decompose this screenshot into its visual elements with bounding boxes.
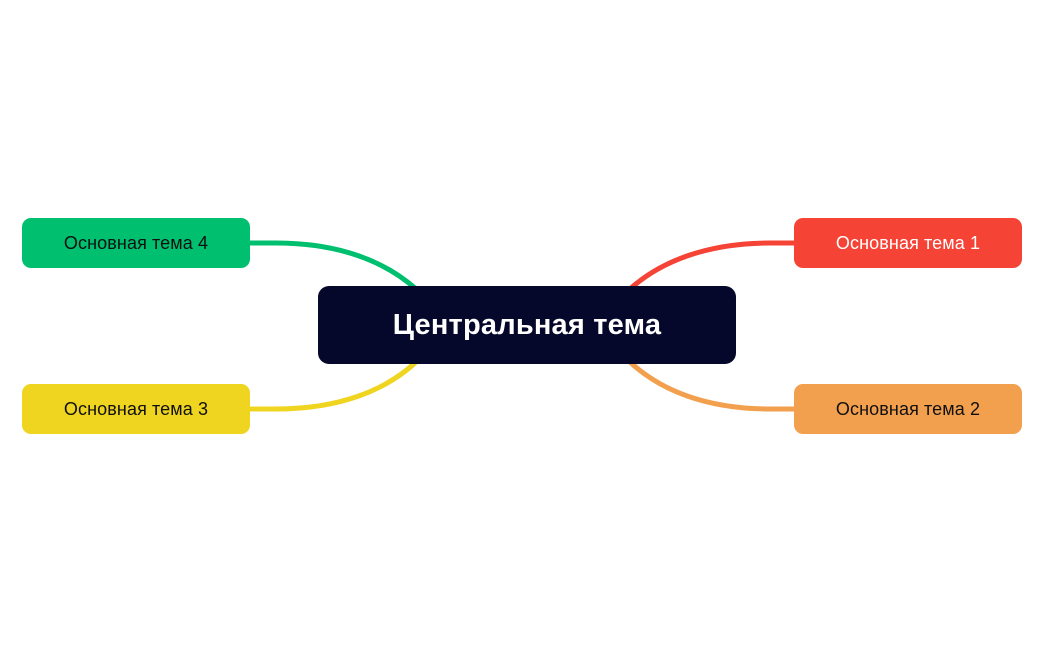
connector-branch-2 bbox=[630, 362, 796, 409]
branch-node-4-label: Основная тема 4 bbox=[64, 233, 208, 254]
mind-map-canvas: Центральная тема Основная тема 1 Основна… bbox=[0, 0, 1047, 650]
branch-node-3-label: Основная тема 3 bbox=[64, 399, 208, 420]
branch-node-2-label: Основная тема 2 bbox=[836, 399, 980, 420]
connector-branch-4 bbox=[250, 243, 416, 289]
central-topic-label: Центральная тема bbox=[393, 309, 661, 342]
branch-node-1[interactable]: Основная тема 1 bbox=[794, 218, 1022, 268]
branch-node-1-label: Основная тема 1 bbox=[836, 233, 980, 254]
connector-branch-1 bbox=[630, 243, 796, 289]
branch-node-2[interactable]: Основная тема 2 bbox=[794, 384, 1022, 434]
connector-branch-3 bbox=[250, 362, 416, 409]
branch-node-3[interactable]: Основная тема 3 bbox=[22, 384, 250, 434]
branch-node-4[interactable]: Основная тема 4 bbox=[22, 218, 250, 268]
central-topic-node[interactable]: Центральная тема bbox=[318, 286, 736, 364]
